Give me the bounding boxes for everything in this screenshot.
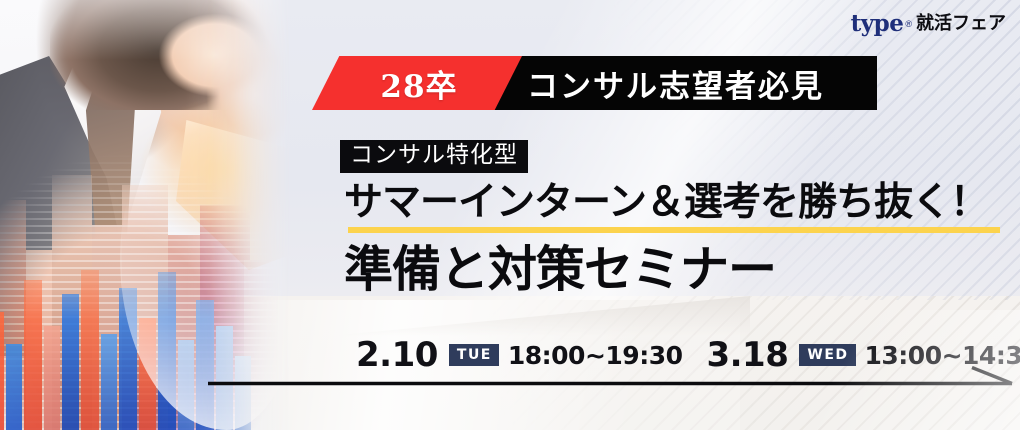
session-date-1-time: 18:00~19:30	[508, 343, 683, 368]
logo-registered-mark: ®	[905, 19, 912, 29]
type-logo: type ® 就活フェア	[851, 12, 1006, 35]
headline-underline	[348, 227, 1000, 233]
badge-grad-year-label: 28卒	[312, 56, 522, 110]
photo-top-fade	[0, 0, 300, 60]
subtitle-tag: コンサル特化型	[340, 140, 528, 173]
session-date-1-dow: TUE	[449, 344, 499, 366]
headline-line-1: サマーインターン＆選考を勝ち抜く！	[344, 182, 988, 225]
seminar-banner: type ® 就活フェア コンサル志望者必見 28卒 コンサル特化型 サマーイン…	[0, 0, 1020, 430]
session-date-2-dow: WED	[799, 344, 855, 366]
logo-brand-text: type	[851, 12, 904, 35]
session-date-2-time: 13:00~14:30	[865, 343, 1020, 368]
headline-line-2: 準備と対策セミナー	[344, 241, 776, 299]
logo-suffix-text: 就活フェア	[916, 15, 1006, 33]
arrow-rule-icon	[206, 366, 1018, 400]
